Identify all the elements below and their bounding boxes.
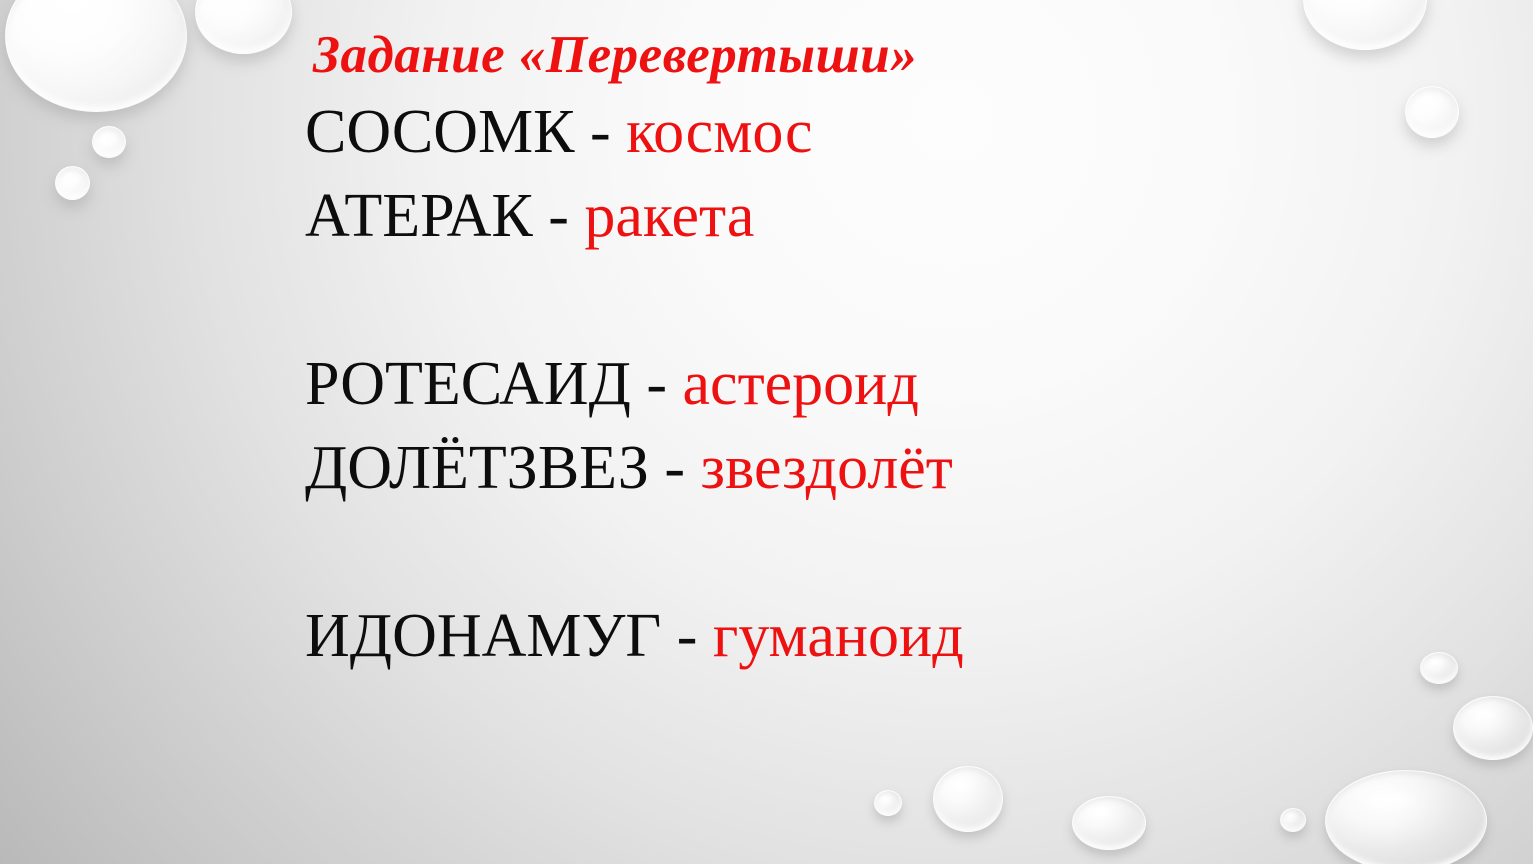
scrambled-word: СОСОМК — [305, 98, 575, 166]
droplet-bottom-right-blob-icon — [1325, 770, 1487, 864]
answer-word: звездолёт — [701, 434, 953, 502]
riddle-line-spacer — [305, 258, 1485, 342]
droplet-bottom-center-icon — [933, 766, 1003, 832]
droplet-top-left-large-icon — [5, 0, 187, 112]
slide-content: Задание «Перевертыши» СОСОМК - космосАТЕ… — [305, 24, 1485, 678]
droplet-right-lower-large-icon — [1453, 696, 1533, 760]
answer-word: астероид — [683, 350, 919, 418]
separator-dash: - — [661, 602, 713, 670]
scrambled-word: ДОЛЁТЗВЕЗ — [305, 434, 649, 502]
separator-dash: - — [575, 98, 627, 166]
droplet-top-left-mid-icon — [195, 0, 292, 54]
riddle-line: ИДОНАМУГ - гуманоид — [305, 594, 1485, 678]
droplet-bottom-right-oval-icon — [1072, 796, 1146, 850]
separator-dash: - — [631, 350, 683, 418]
riddle-line: РОТЕСАИД - астероид — [305, 342, 1485, 426]
scrambled-word: АТЕРАК — [305, 182, 533, 250]
riddle-line: АТЕРАК - ракета — [305, 174, 1485, 258]
scrambled-word: РОТЕСАИД — [305, 350, 631, 418]
answer-word: космос — [626, 98, 812, 166]
riddle-list: СОСОМК - космосАТЕРАК - ракета РОТЕСАИД … — [305, 90, 1485, 678]
answer-word: ракета — [584, 182, 754, 250]
droplet-bottom-center-sm-icon — [874, 790, 902, 816]
riddle-line: СОСОМК - космос — [305, 90, 1485, 174]
riddle-line-spacer — [305, 510, 1485, 594]
droplet-bottom-right-tiny-icon — [1280, 808, 1306, 832]
scrambled-word: ИДОНАМУГ — [305, 602, 661, 670]
droplet-top-left-small-icon — [92, 126, 126, 158]
answer-word: гуманоид — [713, 602, 964, 670]
droplet-left-upper-icon — [55, 166, 90, 200]
presentation-slide: Задание «Перевертыши» СОСОМК - космосАТЕ… — [0, 0, 1533, 864]
slide-title: Задание «Перевертыши» — [313, 24, 1485, 86]
separator-dash: - — [649, 434, 701, 502]
riddle-line: ДОЛЁТЗВЕЗ - звездолёт — [305, 426, 1485, 510]
separator-dash: - — [533, 182, 585, 250]
